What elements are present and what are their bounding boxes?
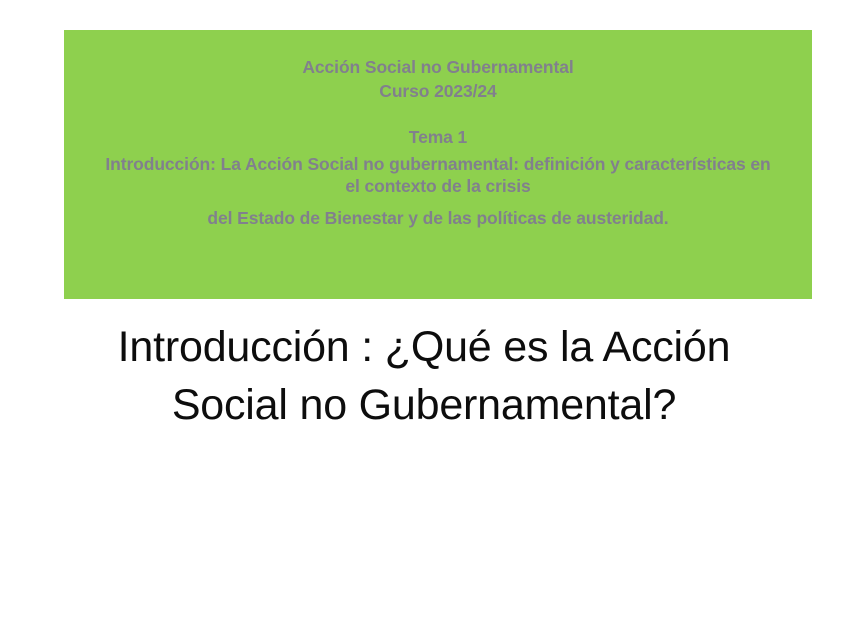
banner-topic-description-continued: del Estado de Bienestar y de las polític… — [64, 207, 812, 230]
page-title-line-1: Introducción : ¿Qué es la Acción — [60, 318, 788, 376]
banner-topic-label: Tema 1 — [64, 126, 812, 149]
page-title: Introducción : ¿Qué es la Acción Social … — [60, 318, 788, 434]
banner-course-title: Acción Social no Gubernamental — [64, 56, 812, 79]
banner-course-year: Curso 2023/24 — [64, 79, 812, 103]
page-title-line-2: Social no Gubernamental? — [60, 376, 788, 434]
title-banner-text-block: Acción Social no Gubernamental Curso 202… — [64, 56, 812, 230]
slide-canvas: Acción Social no Gubernamental Curso 202… — [0, 0, 848, 636]
banner-topic-description: Introducción: La Acción Social no gubern… — [64, 153, 812, 197]
title-banner: Acción Social no Gubernamental Curso 202… — [64, 30, 812, 299]
